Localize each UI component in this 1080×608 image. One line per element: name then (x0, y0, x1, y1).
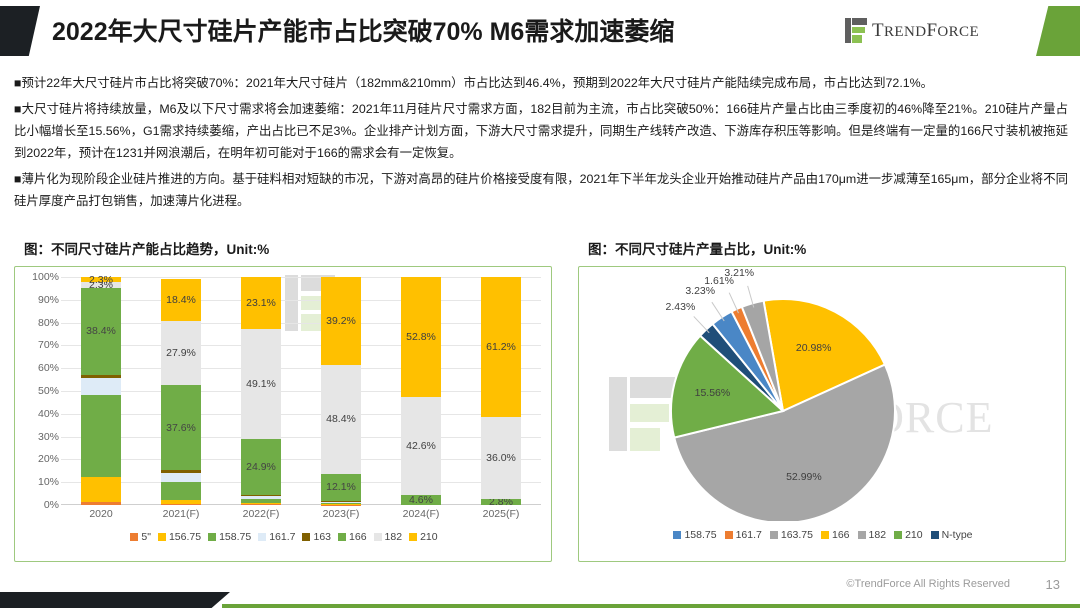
footer-green-bar (222, 604, 1080, 608)
legend-swatch (374, 533, 382, 541)
legend-swatch (338, 533, 346, 541)
bar-chart-gridline (61, 300, 541, 301)
bar-chart-column[interactable]: 37.6%27.9%18.4% (161, 277, 201, 505)
legend-label: 166 (349, 531, 367, 543)
bar-chart-y-tick: 20% (38, 453, 59, 465)
pie-legend-item[interactable]: 163.75 (770, 529, 813, 541)
bar-chart-y-tick: 30% (38, 431, 59, 443)
bar-chart-gridline (61, 368, 541, 369)
bar-chart-segment[interactable]: 48.4% (321, 365, 361, 474)
bar-chart-segment[interactable] (161, 482, 201, 500)
bar-chart-x-tick: 2023(F) (323, 508, 360, 520)
bar-chart-segment[interactable] (321, 502, 361, 503)
bar-chart-data-label: 4.6% (409, 494, 433, 506)
pie-data-label: 3.23% (685, 285, 715, 297)
bar-chart-legend-item[interactable]: 156.75 (158, 531, 201, 543)
bar-chart-segment[interactable]: 24.9% (241, 439, 281, 495)
bar-chart-segment[interactable] (161, 504, 201, 505)
bar-chart-segment[interactable]: 39.2% (321, 277, 361, 365)
bar-chart-legend[interactable]: 5"156.75158.75161.7163166182210 (15, 531, 553, 543)
bar-chart-segment[interactable] (241, 496, 281, 498)
trendforce-logo-mark (845, 18, 867, 43)
bar-chart-data-label: 38.4% (86, 325, 116, 337)
pie-legend-item[interactable]: 210 (894, 529, 923, 541)
pie-data-label: 20.98% (796, 342, 832, 354)
legend-swatch (208, 533, 216, 541)
bar-chart-gridline (61, 277, 541, 278)
bar-chart-data-label: 23.1% (246, 297, 276, 309)
bar-chart-segment[interactable]: 2.8% (481, 499, 521, 505)
bar-chart-data-label: 12.1% (326, 481, 356, 493)
footer-copyright: ©TrendForce All Rights Reserved (846, 578, 1010, 590)
capacity-share-bar-chart: 0%10%20%30%40%50%60%70%80%90%100% 38.4%2… (15, 267, 553, 563)
bar-chart-segment[interactable]: 2.3% (81, 277, 121, 282)
footer-left-wedge (0, 592, 230, 608)
legend-label: 163.75 (781, 529, 813, 541)
bar-chart-segment[interactable]: 37.6% (161, 385, 201, 471)
page-title: 2022年大尺寸硅片产能市占比突破70% M6需求加速萎缩 (52, 12, 674, 48)
legend-label: 158.75 (219, 531, 251, 543)
bar-chart-segment[interactable] (81, 477, 121, 502)
bar-chart-segment[interactable]: 49.1% (241, 329, 281, 439)
legend-swatch (821, 531, 829, 539)
bar-chart-legend-item[interactable]: 182 (374, 531, 403, 543)
bar-chart-x-tick: 2020 (89, 508, 112, 520)
pie-data-label: 2.43% (666, 301, 696, 313)
pie-legend-item[interactable]: 161.7 (725, 529, 762, 541)
legend-label: 210 (420, 531, 438, 543)
legend-swatch (770, 531, 778, 539)
pie-leader-line (694, 316, 709, 332)
bar-chart-legend-item[interactable]: 163 (302, 531, 331, 543)
bar-chart-column[interactable]: 4.6%42.6%52.8% (401, 277, 441, 505)
pie-legend-item[interactable]: 166 (821, 529, 850, 541)
pie-data-label: 3.21% (724, 267, 754, 279)
bar-chart-gridline (61, 323, 541, 324)
bar-chart-segment[interactable]: 38.4% (81, 288, 121, 376)
bar-chart-segment[interactable] (321, 501, 361, 502)
bar-chart-segment[interactable]: 42.6% (401, 397, 441, 494)
legend-label: 166 (832, 529, 850, 541)
legend-swatch (894, 531, 902, 539)
bar-chart-segment[interactable]: 52.8% (401, 277, 441, 397)
legend-swatch (931, 531, 939, 539)
pie-legend-item[interactable]: 158.75 (673, 529, 716, 541)
body-text-block: ■预计22年大尺寸硅片市占比将突破70%：2021年大尺寸硅片（182mm&21… (14, 72, 1068, 216)
bar-chart-data-label: 27.9% (166, 347, 196, 359)
legend-swatch (158, 533, 166, 541)
bar-chart-y-axis: 0%10%20%30%40%50%60%70%80%90%100% (23, 277, 59, 505)
paragraph-3: ■薄片化为现阶段企业硅片推进的方向。基于硅料相对短缺的市况，下游对高昂的硅片价格… (14, 168, 1068, 212)
bar-chart-x-tick: 2025(F) (483, 508, 520, 520)
pie-legend-item[interactable]: N-type (931, 529, 973, 541)
bar-chart-gridline (61, 391, 541, 392)
bar-chart-data-label: 48.4% (326, 413, 356, 425)
header-right-wedge (1036, 6, 1080, 56)
header-left-wedge (0, 6, 40, 56)
left-chart-caption: 图：不同尺寸硅片产能占比趋势，Unit:% (24, 238, 269, 258)
bar-chart-data-label: 39.2% (326, 315, 356, 327)
bar-chart-y-tick: 10% (38, 476, 59, 488)
bar-chart-gridline (61, 482, 541, 483)
bar-chart-column[interactable]: 24.9%49.1%23.1% (241, 277, 281, 505)
legend-label: 158.75 (684, 529, 716, 541)
legend-swatch (409, 533, 417, 541)
legend-label: 163 (313, 531, 331, 543)
bar-chart-legend-item[interactable]: 166 (338, 531, 367, 543)
bar-chart-segment[interactable]: 18.4% (161, 279, 201, 321)
bar-chart-x-tick: 2021(F) (163, 508, 200, 520)
bar-chart-data-label: 24.9% (246, 461, 276, 473)
bar-chart-gridline (61, 345, 541, 346)
trendforce-logo: TRENDFORCE (845, 18, 979, 43)
bar-chart-segment[interactable] (241, 499, 281, 503)
pie-leader-line (712, 302, 724, 321)
bar-chart-x-tick: 2024(F) (403, 508, 440, 520)
bar-chart-segment[interactable]: 61.2% (481, 277, 521, 417)
bar-chart-y-tick: 70% (38, 339, 59, 351)
legend-label: 156.75 (169, 531, 201, 543)
output-share-chart-frame: TRENDFORCE 158.75161.7163.75166182210N-t… (578, 266, 1066, 562)
bar-chart-segment[interactable] (81, 375, 121, 378)
bar-chart-segment[interactable] (321, 503, 361, 504)
legend-swatch (302, 533, 310, 541)
legend-label: 161.7 (269, 531, 295, 543)
legend-label: 210 (905, 529, 923, 541)
paragraph-2: ■大尺寸硅片将持续放量，M6及以下尺寸需求将会加速萎缩：2021年11月硅片尺寸… (14, 98, 1068, 164)
output-share-pie-chart: 158.75161.7163.75166182210N-type 20.98%5… (579, 267, 1067, 563)
bar-chart-segment[interactable] (81, 378, 121, 394)
legend-swatch (725, 531, 733, 539)
bar-chart-y-tick: 60% (38, 362, 59, 374)
bar-chart-segment[interactable] (161, 500, 201, 505)
bar-chart-segment[interactable]: 23.1% (241, 277, 281, 329)
pie-chart-legend[interactable]: 158.75161.7163.75166182210N-type (579, 529, 1067, 541)
bar-chart-data-label: 49.1% (246, 378, 276, 390)
footer-page-number: 13 (1046, 577, 1060, 592)
bar-chart-column[interactable]: 12.1%48.4%39.2% (321, 277, 361, 505)
bar-chart-y-tick: 90% (38, 294, 59, 306)
bar-chart-gridline (61, 437, 541, 438)
slide-root: 2022年大尺寸硅片产能市占比突破70% M6需求加速萎缩 TRENDFORCE… (0, 0, 1080, 608)
bar-chart-x-tick: 2022(F) (243, 508, 280, 520)
bar-chart-legend-item[interactable]: 158.75 (208, 531, 251, 543)
bar-chart-x-axis: 20202021(F)2022(F)2023(F)2024(F)2025(F) (61, 508, 541, 524)
pie-svg (623, 281, 1023, 521)
bar-chart-y-tick: 80% (38, 317, 59, 329)
pie-legend-item[interactable]: 182 (858, 529, 887, 541)
bar-chart-segment[interactable] (241, 503, 281, 505)
capacity-share-chart-frame: 0%10%20%30%40%50%60%70%80%90%100% 38.4%2… (14, 266, 552, 562)
bar-chart-column[interactable]: 2.8%36.0%61.2% (481, 277, 521, 505)
pie-data-label: 15.56% (695, 387, 731, 399)
slide-header: 2022年大尺寸硅片产能市占比突破70% M6需求加速萎缩 TRENDFORCE (0, 0, 1080, 62)
legend-swatch (858, 531, 866, 539)
legend-label: 182 (385, 531, 403, 543)
bar-chart-column[interactable]: 38.4%2.3%2.3% (81, 277, 121, 505)
bar-chart-data-label: 37.6% (166, 422, 196, 434)
bar-chart-segment[interactable] (81, 502, 121, 505)
pie-data-label: 52.99% (786, 471, 822, 483)
bar-chart-segment[interactable]: 27.9% (161, 321, 201, 385)
bar-chart-data-label: 52.8% (406, 331, 436, 343)
bar-chart-y-tick: 50% (38, 385, 59, 397)
bar-chart-segment[interactable] (321, 504, 361, 505)
bar-chart-y-tick: 0% (44, 499, 59, 511)
bar-chart-gridline (61, 459, 541, 460)
legend-label: N-type (942, 529, 973, 541)
right-chart-caption: 图：不同尺寸硅片产量占比，Unit:% (588, 238, 806, 258)
legend-label: 5" (141, 531, 151, 543)
bar-chart-data-label: 2.3% (89, 274, 113, 286)
legend-label: 161.7 (736, 529, 762, 541)
legend-swatch (673, 531, 681, 539)
paragraph-1: ■预计22年大尺寸硅片市占比将突破70%：2021年大尺寸硅片（182mm&21… (14, 72, 1068, 94)
bar-chart-legend-item[interactable]: 5" (130, 531, 151, 543)
legend-swatch (130, 533, 138, 541)
bar-chart-legend-item[interactable]: 161.7 (258, 531, 295, 543)
bar-chart-segment[interactable] (161, 473, 201, 481)
legend-swatch (258, 533, 266, 541)
legend-label: 182 (869, 529, 887, 541)
bar-chart-segment[interactable]: 12.1% (321, 474, 361, 501)
bar-chart-gridline (61, 414, 541, 415)
bar-chart-y-tick: 100% (32, 271, 59, 283)
bar-chart-segment[interactable] (241, 495, 281, 497)
bar-chart-plot-area: 38.4%2.3%2.3%37.6%27.9%18.4%24.9%49.1%23… (61, 277, 541, 505)
bar-chart-data-label: 42.6% (406, 440, 436, 452)
bar-chart-segment[interactable] (161, 470, 201, 473)
bar-chart-data-label: 18.4% (166, 294, 196, 306)
bar-chart-legend-item[interactable]: 210 (409, 531, 438, 543)
bar-chart-segment[interactable]: 4.6% (401, 495, 441, 505)
bar-chart-y-tick: 40% (38, 408, 59, 420)
bar-chart-axis-line (61, 504, 541, 505)
trendforce-logo-text: TRENDFORCE (872, 20, 979, 42)
bar-chart-segment[interactable]: 36.0% (481, 417, 521, 499)
bar-chart-data-label: 61.2% (486, 341, 516, 353)
bar-chart-segment[interactable] (81, 395, 121, 478)
bar-chart-segment[interactable] (241, 504, 281, 505)
bar-chart-data-label: 36.0% (486, 452, 516, 464)
